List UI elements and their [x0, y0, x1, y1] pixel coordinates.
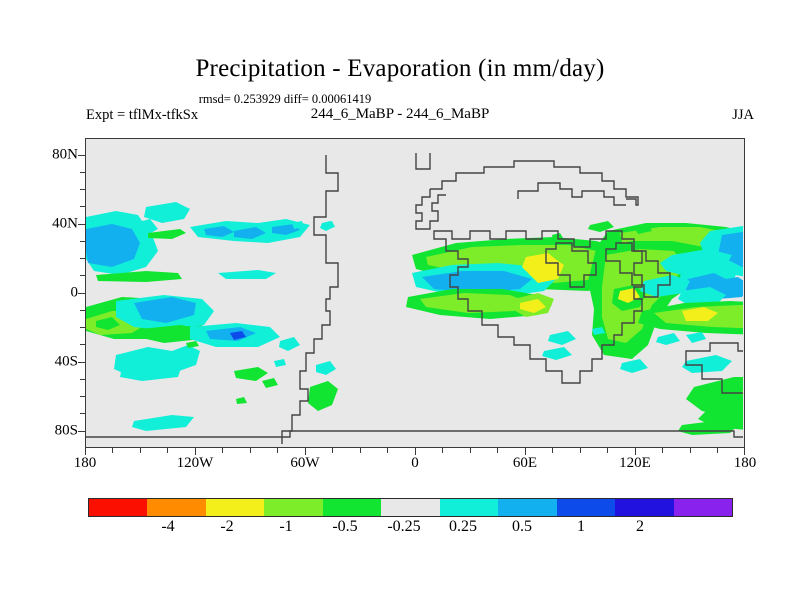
ytick-mark: [80, 310, 85, 311]
xtick-mark: [305, 448, 306, 455]
xtick-mark: [552, 448, 553, 453]
ytick-mark: [80, 379, 85, 380]
map-plot-area: [85, 138, 745, 448]
xtick-label: 180: [74, 455, 97, 472]
xtick-mark: [607, 448, 608, 453]
ytick-mark: [80, 258, 85, 259]
xtick-label: 60W: [290, 455, 319, 472]
xtick-label: 60E: [513, 455, 537, 472]
ytick-mark: [80, 206, 85, 207]
season-label: JJA: [732, 107, 754, 124]
ytick-label: 40N: [52, 216, 78, 233]
ytick-mark: [80, 275, 85, 276]
ytick-label: 0: [71, 285, 79, 302]
colorbar-label: -1: [279, 518, 292, 536]
xtick-mark: [112, 448, 113, 453]
case-label: 244_6_MaBP - 244_6_MaBP: [0, 106, 800, 123]
colorbar-label: 2: [636, 518, 644, 536]
xtick-mark: [415, 448, 416, 455]
colorbar-segment-3: [264, 499, 322, 516]
xtick-label: 120E: [619, 455, 651, 472]
ytick-mark: [80, 344, 85, 345]
colorbar-label: 0.5: [512, 518, 532, 536]
ytick-mark: [80, 327, 85, 328]
xtick-mark: [470, 448, 471, 453]
ytick-mark: [80, 172, 85, 173]
xtick-label: 120W: [177, 455, 214, 472]
xtick-mark: [195, 448, 196, 455]
colorbar-segment-2: [206, 499, 264, 516]
page-title: Precipitation - Evaporation (in mm/day): [0, 55, 800, 83]
colorbar-segment-5: [381, 499, 439, 516]
ytick-mark: [80, 189, 85, 190]
colorbar-segment-6: [440, 499, 498, 516]
xtick-mark: [635, 448, 636, 455]
colorbar: [88, 498, 733, 517]
ytick-mark: [78, 224, 85, 225]
colorbar-segment-1: [147, 499, 205, 516]
colorbar-segment-9: [615, 499, 673, 516]
xtick-mark: [167, 448, 168, 453]
ytick-mark: [78, 431, 85, 432]
xtick-mark: [744, 448, 745, 455]
xtick-mark: [387, 448, 388, 453]
colorbar-segment-4: [323, 499, 381, 516]
ytick-label: 40S: [55, 354, 78, 371]
xtick-mark: [332, 448, 333, 453]
xtick-mark: [222, 448, 223, 453]
xtick-mark: [525, 448, 526, 455]
xtick-mark: [442, 448, 443, 453]
colorbar-label: -4: [161, 518, 174, 536]
ytick-mark: [80, 413, 85, 414]
figure-canvas: Precipitation - Evaporation (in mm/day) …: [0, 0, 800, 600]
xtick-mark: [497, 448, 498, 453]
colorbar-segment-0: [89, 499, 147, 516]
colorbar-label: -2: [220, 518, 233, 536]
xtick-mark: [85, 448, 86, 455]
xtick-mark: [662, 448, 663, 453]
colorbar-label: -0.5: [332, 518, 357, 536]
ytick-mark: [78, 155, 85, 156]
colorbar-label: 1: [577, 518, 585, 536]
ytick-label: 80N: [52, 147, 78, 164]
ytick-label: 80S: [55, 423, 78, 440]
xtick-mark: [277, 448, 278, 453]
xtick-mark: [250, 448, 251, 453]
xtick-mark: [360, 448, 361, 453]
xtick-mark: [717, 448, 718, 453]
colorbar-label: 0.25: [449, 518, 477, 536]
ytick-mark: [78, 362, 85, 363]
xtick-mark: [140, 448, 141, 453]
xtick-label: 180: [734, 455, 757, 472]
colorbar-segment-7: [498, 499, 556, 516]
ytick-mark: [78, 293, 85, 294]
ytick-mark: [80, 396, 85, 397]
ytick-mark: [80, 241, 85, 242]
xtick-mark: [580, 448, 581, 453]
xtick-label: 0: [411, 455, 419, 472]
colorbar-segment-8: [557, 499, 615, 516]
colorbar-segment-10: [674, 499, 732, 516]
colorbar-label: -0.25: [387, 518, 420, 536]
xtick-mark: [690, 448, 691, 453]
stats-line: rmsd= 0.253929 diff= 0.00061419: [0, 92, 570, 107]
